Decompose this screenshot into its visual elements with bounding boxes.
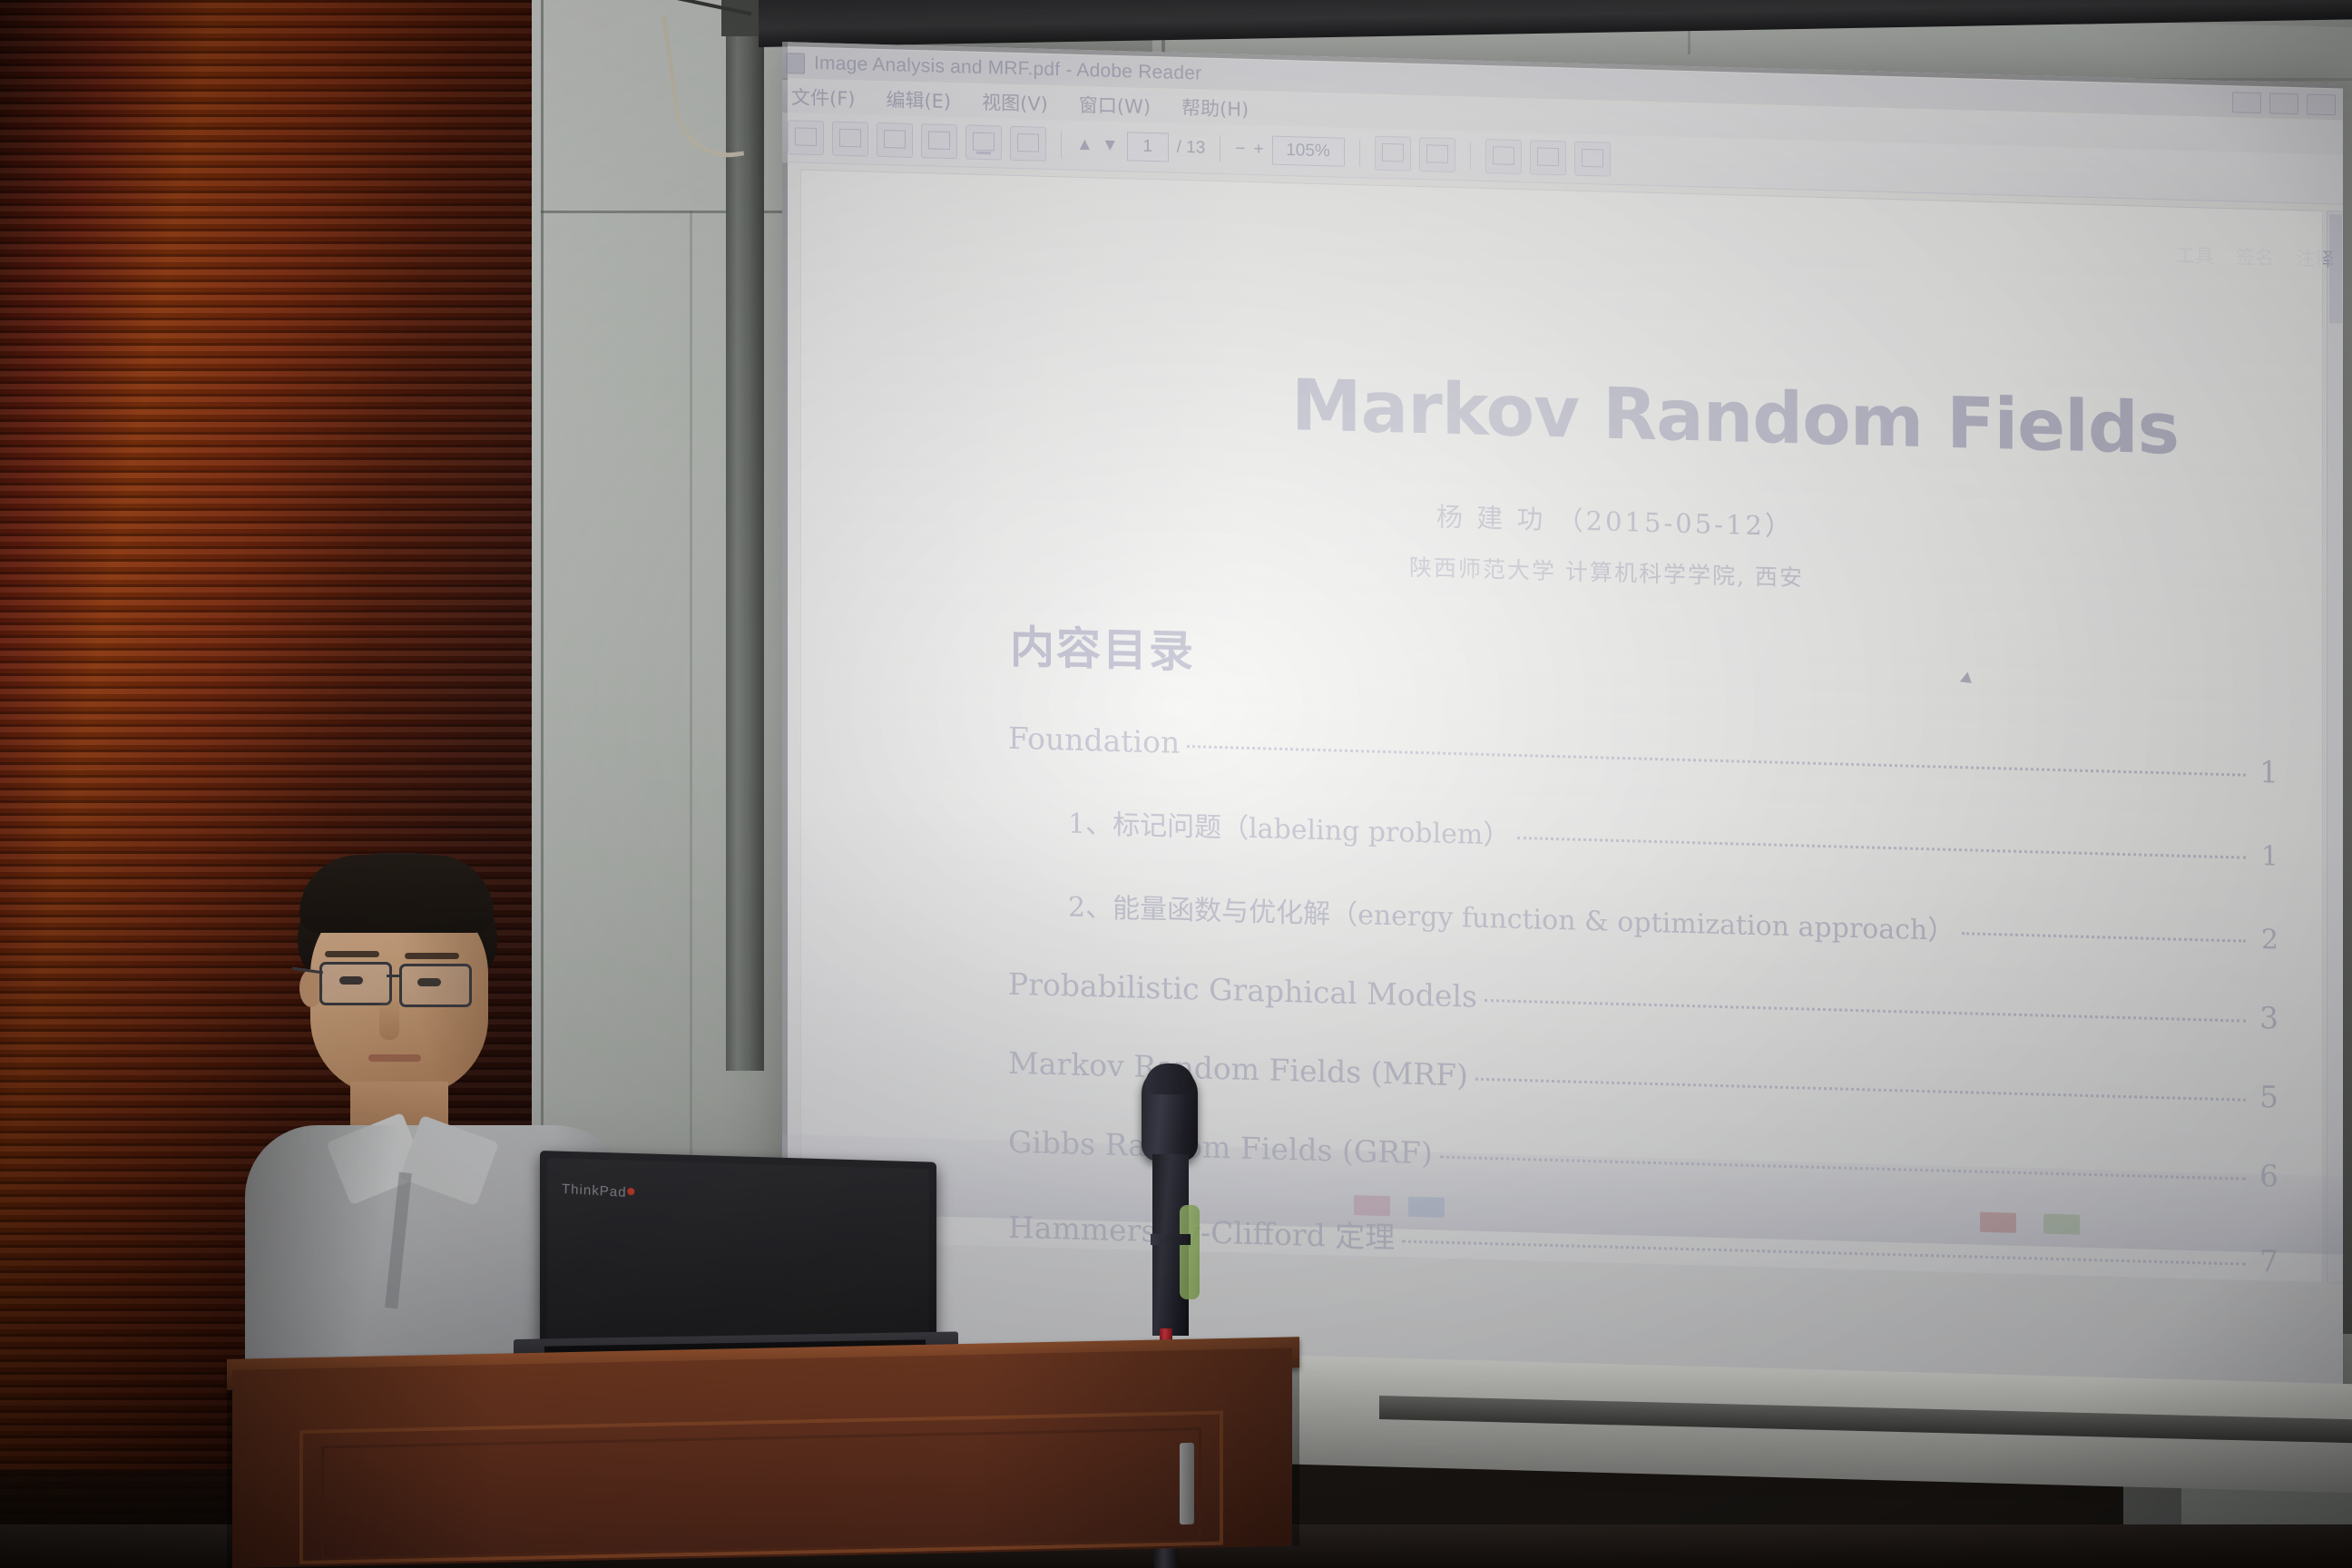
minimize-button[interactable] [2232,92,2261,113]
hair-front [299,855,494,933]
highlight-icon[interactable] [1485,139,1522,174]
window-title: Image Analysis and MRF.pdf - Adobe Reade… [814,53,1201,85]
toc-entry-label: Markov Random Fields (MRF) [1008,1045,1468,1093]
projection-screen: Image Analysis and MRF.pdf - Adobe Reade… [782,42,2343,1455]
slide-title: Markov Random Fields [1291,365,2179,470]
microphone-green-accent [1180,1205,1200,1299]
pdf-document-icon [786,53,805,74]
menu-window[interactable]: 窗口(W) [1079,91,1151,120]
taskbar-item-2 [1354,1195,1390,1216]
toc-entry-label: Foundation [1008,720,1180,760]
toc-entry-page: 5 [2253,1079,2278,1115]
toc-entry-page: 2 [2253,924,2278,956]
toc-dot-leader [1485,999,2246,1023]
ceiling-pipe [726,0,764,1071]
print-icon[interactable] [965,124,1002,160]
create-pdf-icon[interactable] [921,123,957,159]
eyebrow-right [405,953,459,959]
sticky-note-icon[interactable] [1530,140,1566,175]
slide-author: 杨 建 功 （2015-05-12） [1436,496,1794,544]
toc-entry-page: 1 [2253,840,2278,873]
slide-affiliation: 陕西师范大学 计算机科学学院, 西安 [1409,550,1804,593]
fit-width-icon[interactable] [1419,137,1455,172]
podium-panel-inset [321,1427,1201,1560]
maximize-button[interactable] [2269,93,2298,114]
zoom-in-button[interactable]: + [1253,140,1263,160]
microphone-ring [1151,1234,1191,1245]
podium-front-panel [299,1411,1223,1564]
lecture-hall-photo: Image Analysis and MRF.pdf - Adobe Reade… [0,0,2352,1568]
toolbar-separator-2 [1220,135,1220,162]
adobe-reader-window[interactable]: Image Analysis and MRF.pdf - Adobe Reade… [782,42,2343,1255]
scrollbar-thumb[interactable] [2329,214,2342,323]
pdf-page: Markov Random Fields 杨 建 功 （2015-05-12） … [800,170,2323,1283]
toolbar-separator-4 [1470,142,1471,169]
eyeglasses-bridge [387,975,401,977]
zoom-level-input[interactable]: 105% [1272,136,1345,167]
save-file-icon[interactable] [832,121,868,156]
mouse-pointer-arrow [1960,671,1975,688]
page-total-label: / 13 [1177,138,1206,159]
toc-entry-label: 1、标记问题（labeling problem） [1068,801,1510,853]
document-scrollbar[interactable] [2327,211,2343,1284]
window-controls[interactable] [2232,92,2336,115]
menu-file[interactable]: 文件(F) [791,83,855,112]
toc-dot-leader [1962,932,2246,942]
toc-dot-leader [1475,1078,2246,1102]
fit-page-icon[interactable] [1375,136,1411,171]
menu-view[interactable]: 视图(V) [982,88,1048,117]
eyebrow-left [325,951,379,957]
page-number-input[interactable]: 1 [1127,132,1169,162]
toc-entry-label: 2、能量函数与优化解（energy function & optimizatio… [1068,885,1955,948]
menu-edit[interactable]: 编辑(E) [886,85,951,114]
toc-entry-page: 3 [2253,1000,2278,1036]
microphone-grille [1145,1063,1194,1094]
export-pdf-icon[interactable] [877,122,913,158]
zoom-out-button[interactable]: − [1235,140,1245,160]
wall-seam-horizontal [541,211,822,213]
page-prev-button[interactable]: ▲ [1076,135,1093,156]
taskbar-item-5 [2043,1214,2080,1235]
toc-entry-page: 1 [2253,754,2278,790]
toc-entry[interactable]: 1、标记问题（labeling problem） 1 [1008,799,2278,874]
sign-icon[interactable] [1574,142,1611,177]
toc-entry[interactable]: Foundation 1 [1008,720,2278,790]
toc-entry-label: Probabilistic Graphical Models [1008,966,1477,1014]
email-icon[interactable] [1010,126,1046,162]
taskbar-item-3 [1408,1197,1445,1218]
podium-handle[interactable] [1180,1443,1194,1524]
toc-dot-leader [1187,745,2246,777]
toolbar-separator-3 [1359,139,1360,166]
toc-dot-leader [1517,837,2246,859]
thinkpad-logo-dot-icon [627,1188,634,1195]
toc-entry[interactable]: 2、能量函数与优化解（energy function & optimizatio… [1008,883,2278,957]
page-next-button[interactable]: ▼ [1102,136,1119,157]
toc-heading: 内容目录 [1010,612,1195,681]
open-file-icon[interactable] [788,120,824,155]
eyeglasses-lens-right [399,964,472,1007]
nose [379,996,399,1040]
menu-help[interactable]: 帮助(H) [1181,93,1249,122]
close-button[interactable] [2307,93,2336,115]
toc-entry[interactable]: Markov Random Fields (MRF) 5 [1008,1045,2278,1115]
toolbar-separator-1 [1061,131,1062,158]
taskbar-item-4 [1980,1212,2016,1233]
toc-entry[interactable]: Probabilistic Graphical Models 3 [1008,966,2278,1036]
mouth [368,1054,421,1062]
